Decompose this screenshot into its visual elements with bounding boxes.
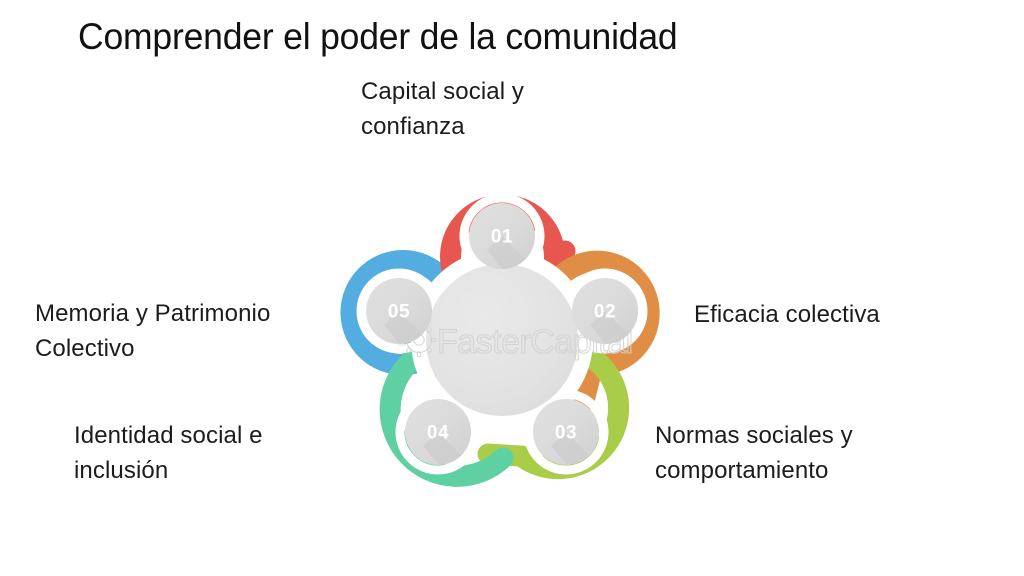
callout-label-03-line1: Normas sociales y <box>655 418 975 453</box>
node-04-number: 04 <box>427 423 449 444</box>
slide-canvas: Comprender el poder de la comunidad Capi… <box>0 0 1024 576</box>
node-01-number: 01 <box>491 227 513 248</box>
node-02-number: 02 <box>594 302 616 323</box>
callout-label-01-line2: confianza <box>361 109 661 144</box>
callout-label-03: Normas sociales y comportamiento <box>655 418 975 488</box>
callout-label-01: Capital social y confianza <box>361 74 661 144</box>
callout-label-02-line1: Eficacia colectiva <box>694 297 994 332</box>
page-title: Comprender el poder de la comunidad <box>78 14 677 60</box>
callout-label-03-line2: comportamiento <box>655 453 975 488</box>
callout-label-05: Memoria y Patrimonio Colectivo <box>35 296 355 366</box>
community-power-diagram: FasterCapital 01 02 <box>327 170 677 500</box>
callout-label-02: Eficacia colectiva <box>694 297 994 332</box>
node-03-number: 03 <box>555 423 577 444</box>
callout-label-05-line1: Memoria y Patrimonio <box>35 296 355 331</box>
callout-label-05-line2: Colectivo <box>35 331 355 366</box>
node-05-number: 05 <box>388 302 410 323</box>
callout-label-01-line1: Capital social y <box>361 74 661 109</box>
